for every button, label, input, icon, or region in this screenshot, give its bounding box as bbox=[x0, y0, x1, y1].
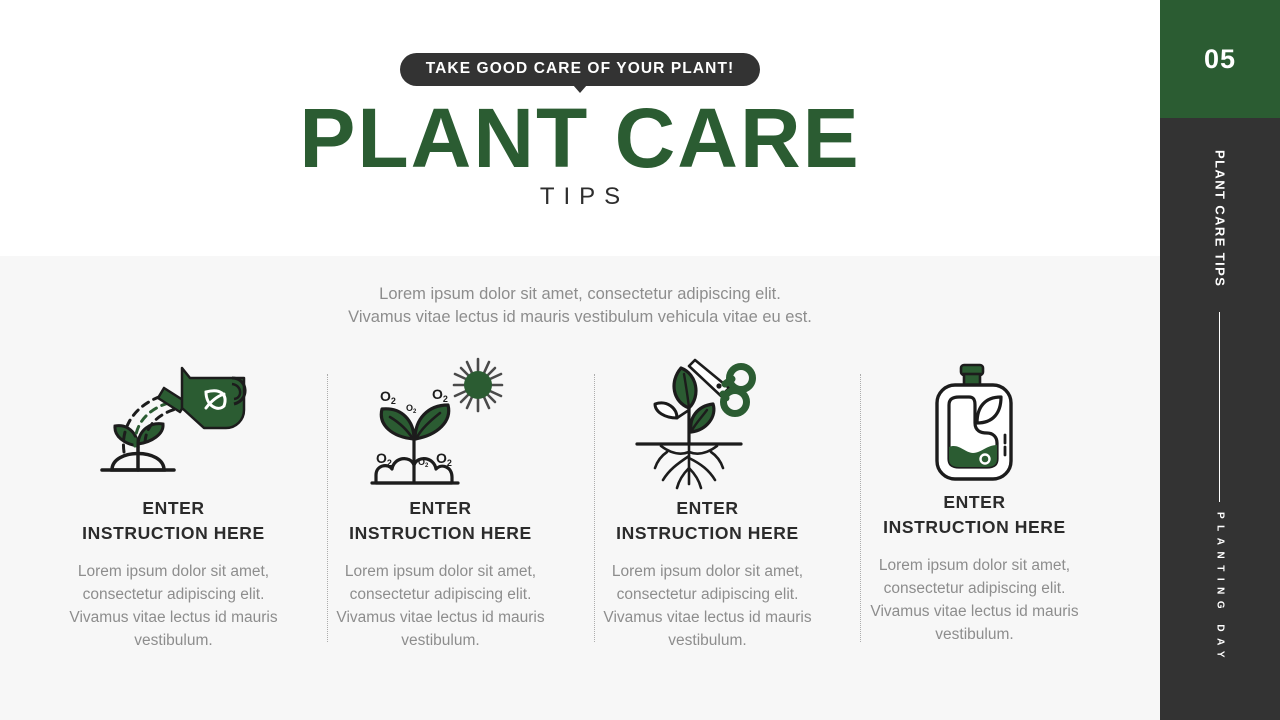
o2-label: O2 bbox=[380, 388, 396, 406]
page-subtitle: TIPS bbox=[0, 183, 1160, 211]
intro-paragraph: Lorem ipsum dolor sit amet, consectetur … bbox=[0, 283, 1160, 330]
tip-heading-line-1: ENTER bbox=[943, 492, 1005, 512]
tip-body: Lorem ipsum dolor sit amet, consectetur … bbox=[63, 560, 285, 653]
slide-number: 05 bbox=[1204, 44, 1236, 75]
badge-label: TAKE GOOD CARE OF YOUR PLANT! bbox=[426, 60, 735, 77]
pruning-scissors-icon bbox=[633, 352, 783, 492]
tip-heading-line-2: INSTRUCTION HERE bbox=[82, 523, 265, 543]
intro-line-2: Vivamus vitae lectus id mauris vestibulu… bbox=[0, 306, 1160, 329]
photosynthesis-sun-icon: O2 O2 O2 O2 O2 O2 bbox=[366, 353, 516, 491]
right-sidebar: 05 PLANT CARE TIPS PLANTING DAY bbox=[1160, 0, 1280, 720]
badge-container: TAKE GOOD CARE OF YOUR PLANT! bbox=[0, 53, 1160, 86]
tip-body: Lorem ipsum dolor sit amet, consectetur … bbox=[330, 560, 552, 653]
sidebar-divider-line bbox=[1219, 312, 1220, 502]
slide-root: TAKE GOOD CARE OF YOUR PLANT! PLANT CARE… bbox=[0, 0, 1280, 720]
tip-heading: ENTER INSTRUCTION HERE bbox=[593, 496, 823, 546]
page-title: PLANT CARE bbox=[0, 96, 1160, 180]
fertilizer-bottle-icon bbox=[915, 361, 1035, 483]
main-content: TAKE GOOD CARE OF YOUR PLANT! PLANT CARE… bbox=[0, 0, 1160, 720]
o2-label: O2 bbox=[432, 386, 448, 404]
tip-icon-slot bbox=[40, 352, 307, 492]
intro-line-1: Lorem ipsum dolor sit amet, consectetur … bbox=[0, 283, 1160, 306]
sidebar-vertical-subtitle-wrap: PLANTING DAY bbox=[1160, 512, 1280, 664]
tip-column[interactable]: ENTER INSTRUCTION HERE Lorem ipsum dolor… bbox=[40, 352, 307, 662]
sidebar-vertical-title-wrap: PLANT CARE TIPS bbox=[1160, 150, 1280, 287]
sidebar-vertical-title: PLANT CARE TIPS bbox=[1213, 150, 1228, 287]
tip-heading-line-1: ENTER bbox=[676, 498, 738, 518]
tip-heading: ENTER INSTRUCTION HERE bbox=[326, 496, 556, 546]
tip-column[interactable]: ENTER INSTRUCTION HERE Lorem ipsum dolor… bbox=[841, 352, 1108, 662]
tip-body: Lorem ipsum dolor sit amet, consectetur … bbox=[597, 560, 819, 653]
tips-columns: ENTER INSTRUCTION HERE Lorem ipsum dolor… bbox=[40, 352, 1120, 662]
tip-heading-line-2: INSTRUCTION HERE bbox=[349, 523, 532, 543]
tip-heading-line-1: ENTER bbox=[142, 498, 204, 518]
o2-label: O2 bbox=[406, 403, 417, 415]
o2-label: O2 bbox=[376, 450, 392, 468]
tip-heading-line-1: ENTER bbox=[409, 498, 471, 518]
tip-icon-slot bbox=[574, 352, 841, 492]
tip-heading: ENTER INSTRUCTION HERE bbox=[860, 490, 1090, 540]
tip-icon-slot: O2 O2 O2 O2 O2 O2 bbox=[307, 352, 574, 492]
tip-heading-line-2: INSTRUCTION HERE bbox=[883, 517, 1066, 537]
o2-label: O2 bbox=[436, 450, 452, 468]
eyebrow-badge: TAKE GOOD CARE OF YOUR PLANT! bbox=[400, 53, 761, 86]
tip-body: Lorem ipsum dolor sit amet, consectetur … bbox=[864, 554, 1086, 647]
sidebar-vertical-subtitle: PLANTING DAY bbox=[1215, 512, 1226, 664]
tip-heading: ENTER INSTRUCTION HERE bbox=[59, 496, 289, 546]
tip-column[interactable]: ENTER INSTRUCTION HERE Lorem ipsum dolor… bbox=[574, 352, 841, 662]
tip-icon-slot bbox=[841, 352, 1108, 492]
tip-heading-line-2: INSTRUCTION HERE bbox=[616, 523, 799, 543]
slide-number-block: 05 bbox=[1160, 0, 1280, 118]
watering-can-icon bbox=[94, 358, 254, 486]
tip-column[interactable]: O2 O2 O2 O2 O2 O2 ENTER INSTRUCTION HERE… bbox=[307, 352, 574, 662]
